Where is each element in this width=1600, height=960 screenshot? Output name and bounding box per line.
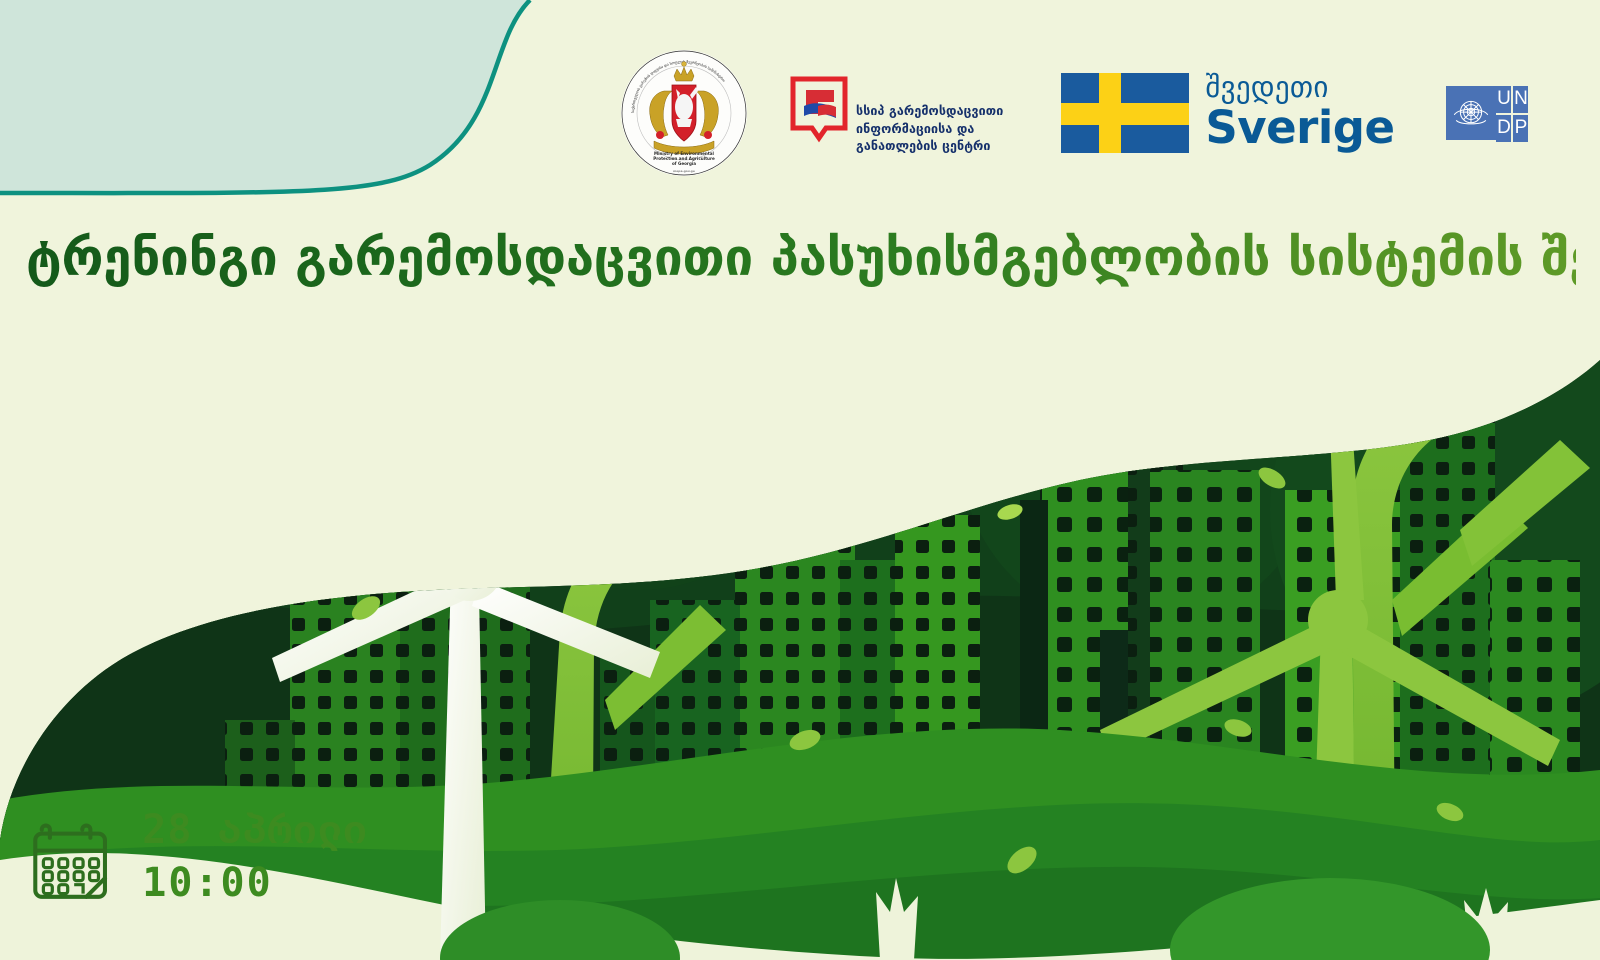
event-datetime-block: 28 აპრილი 10:00 [28,800,368,940]
event-date: 28 აპრილი [142,806,368,854]
undp-letter-grid: U N D P [1496,86,1528,142]
datetime-text: 28 აპრილი 10:00 [142,806,368,908]
undp-letter-n: N [1513,86,1528,113]
sverige-georgian-label: შვედეთი [1205,73,1394,102]
undp-letter-u: U [1496,86,1511,113]
sgeic-line-2: ინფორმაციისა და [856,120,1003,138]
sgeic-logo: სსიპ გარემოსდაცვითი ინფორმაციისა და განა… [790,70,1003,155]
georgia-coat-of-arms-icon: საქართველოს გარემოს დაცვისა და სოფლის მე… [620,49,748,177]
svg-text:mepa.gov.ge: mepa.gov.ge [673,169,695,173]
sgeic-line-1: სსიპ გარემოსდაცვითი [856,102,1003,120]
undp-logo: U N D P [1446,84,1528,142]
ministry-emblem-logo: საქართველოს გარემოს დაცვისა და სოფლის მე… [620,49,748,177]
undp-letter-p: P [1513,115,1528,142]
undp-letter-d: D [1496,115,1511,142]
partner-logos: საქართველოს გარემოს დაცვისა და სოფლის მე… [620,40,1500,185]
sgeic-mark-icon [790,76,848,150]
sweden-flag-icon [1061,73,1189,153]
event-title: ტრენინგი გარემოსდაცვითი პასუხისმგებლობის… [26,226,1576,296]
sgeic-logo-text: სსიპ გარემოსდაცვითი ინფორმაციისა და განა… [856,102,1003,155]
sverige-text: შვედეთი Sverige [1205,73,1394,151]
poster-canvas: საქართველოს გარემოს დაცვისა და სოფლის მე… [0,0,1600,960]
event-time: 10:00 [142,858,368,908]
sverige-logo: შვედეთი Sverige [1061,73,1394,153]
svg-text:of Georgia: of Georgia [672,161,696,166]
sverige-latin-label: Sverige [1205,104,1394,151]
calendar-icon [28,810,112,914]
sgeic-line-3: განათლების ცენტრი [856,137,1003,155]
un-emblem-icon [1446,86,1496,140]
